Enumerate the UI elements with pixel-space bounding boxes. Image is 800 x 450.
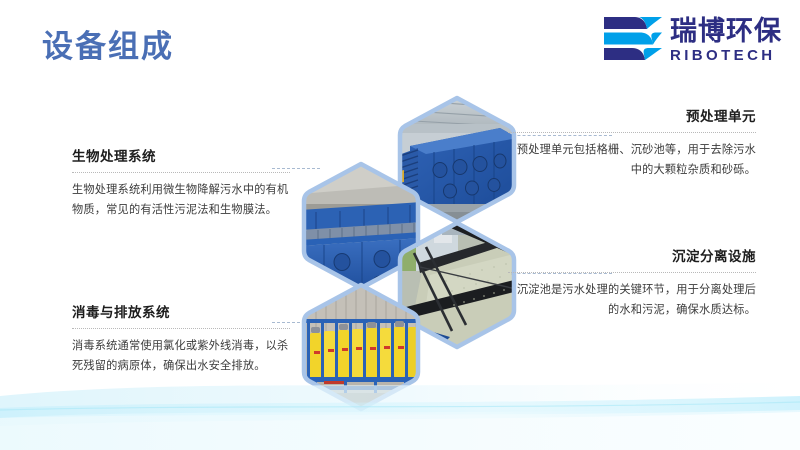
block-body-disinfect: 消毒系统通常使用氯化或紫外线消毒，以杀死残留的病原体，确保出水安全排放。 [72,336,290,376]
logo-name-cn: 瑞博环保 [670,17,782,45]
logo-text: 瑞博环保 RIBOTECH [670,17,782,63]
block-divider-settle [508,272,756,273]
photo-yellow-filter-vessels[interactable] [300,281,422,413]
block-divider-disinfect [72,328,290,329]
block-title-disinfect: 消毒与排放系统 [72,304,290,322]
company-logo: 瑞博环保 RIBOTECH [602,14,782,66]
block-divider-pretreat [508,132,756,133]
block-body-bio: 生物处理系统利用微生物降解污水中的有机物质，常见的有活性污泥法和生物膜法。 [72,180,290,220]
text-block-disinfect: 消毒与排放系统 消毒系统通常使用氯化或紫外线消毒，以杀死残留的病原体，确保出水安… [72,304,290,376]
block-title-bio: 生物处理系统 [72,148,290,166]
block-title-pretreat: 预处理单元 [508,108,756,126]
page-title: 设备组成 [42,28,174,65]
text-block-pretreat: 预处理单元 预处理单元包括格栅、沉砂池等，用于去除污水中的大颗粒杂质和砂砾。 [508,108,756,180]
text-block-settle: 沉淀分离设施 沉淀池是污水处理的关键环节，用于分离处理后的水和污泥，确保水质达标… [508,248,756,320]
ribotech-wave-logo-icon [602,14,664,66]
text-block-bio: 生物处理系统 生物处理系统利用微生物降解污水中的有机物质，常见的有活性污泥法和生… [72,148,290,220]
block-divider-bio [72,172,290,173]
block-title-settle: 沉淀分离设施 [508,248,756,266]
block-body-pretreat: 预处理单元包括格栅、沉砂池等，用于去除污水中的大颗粒杂质和砂砾。 [508,140,756,180]
logo-name-en: RIBOTECH [670,48,776,63]
slide-root: 设备组成 瑞博环保 RIBOTECH [0,0,800,450]
block-body-settle: 沉淀池是污水处理的关键环节，用于分离处理后的水和污泥，确保水质达标。 [508,280,756,320]
hexagon-photo-cluster [0,0,800,450]
